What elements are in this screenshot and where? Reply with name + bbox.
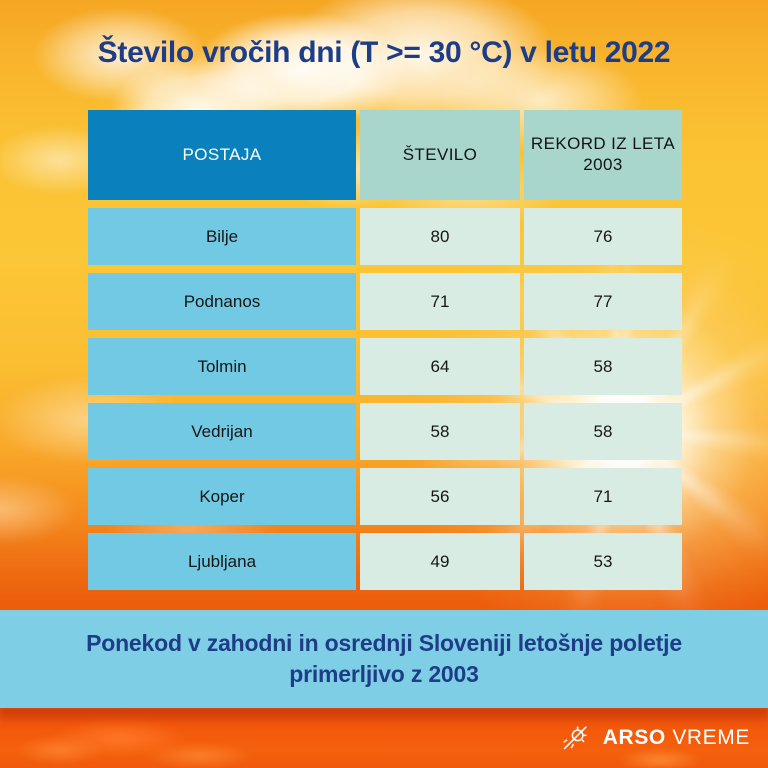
table-row: Vedrijan 58 58 <box>88 403 682 460</box>
cell-count: 71 <box>360 273 520 330</box>
cell-record: 53 <box>524 533 682 590</box>
cell-station: Podnanos <box>88 273 356 330</box>
caption-text: Ponekod v zahodni in osrednji Sloveniji … <box>39 628 729 689</box>
cell-record: 58 <box>524 403 682 460</box>
table-row: Koper 56 71 <box>88 468 682 525</box>
column-header-record: REKORD IZ LETA 2003 <box>524 110 682 200</box>
column-header-station: POSTAJA <box>88 110 356 200</box>
column-header-count: ŠTEVILO <box>360 110 520 200</box>
cell-station: Bilje <box>88 208 356 265</box>
cell-count: 64 <box>360 338 520 395</box>
brand-name-primary: ARSO <box>603 726 666 749</box>
sun-slash-icon <box>561 724 589 752</box>
cell-count: 56 <box>360 468 520 525</box>
table-row: Tolmin 64 58 <box>88 338 682 395</box>
cell-count: 58 <box>360 403 520 460</box>
cell-count: 80 <box>360 208 520 265</box>
table-row: Podnanos 71 77 <box>88 273 682 330</box>
footer-strip: ARSO VREME <box>0 708 768 768</box>
cell-count: 49 <box>360 533 520 590</box>
page-title: Število vročih dni (T >= 30 °C) v letu 2… <box>0 36 768 70</box>
hot-days-table: POSTAJA ŠTEVILO REKORD IZ LETA 2003 Bilj… <box>88 110 682 590</box>
table-row: Ljubljana 49 53 <box>88 533 682 590</box>
table-row: Bilje 80 76 <box>88 208 682 265</box>
cell-station: Ljubljana <box>88 533 356 590</box>
caption-band: Ponekod v zahodni in osrednji Sloveniji … <box>0 610 768 708</box>
cell-station: Vedrijan <box>88 403 356 460</box>
table-header-row: POSTAJA ŠTEVILO REKORD IZ LETA 2003 <box>88 110 682 200</box>
brand-name-secondary: VREME <box>672 726 750 749</box>
brand-logo: ARSO VREME <box>561 708 750 768</box>
cell-record: 77 <box>524 273 682 330</box>
infographic-poster: Število vročih dni (T >= 30 °C) v letu 2… <box>0 0 768 768</box>
cell-station: Koper <box>88 468 356 525</box>
cell-record: 76 <box>524 208 682 265</box>
brand-text: ARSO VREME <box>603 726 750 750</box>
cell-record: 58 <box>524 338 682 395</box>
cell-record: 71 <box>524 468 682 525</box>
cell-station: Tolmin <box>88 338 356 395</box>
